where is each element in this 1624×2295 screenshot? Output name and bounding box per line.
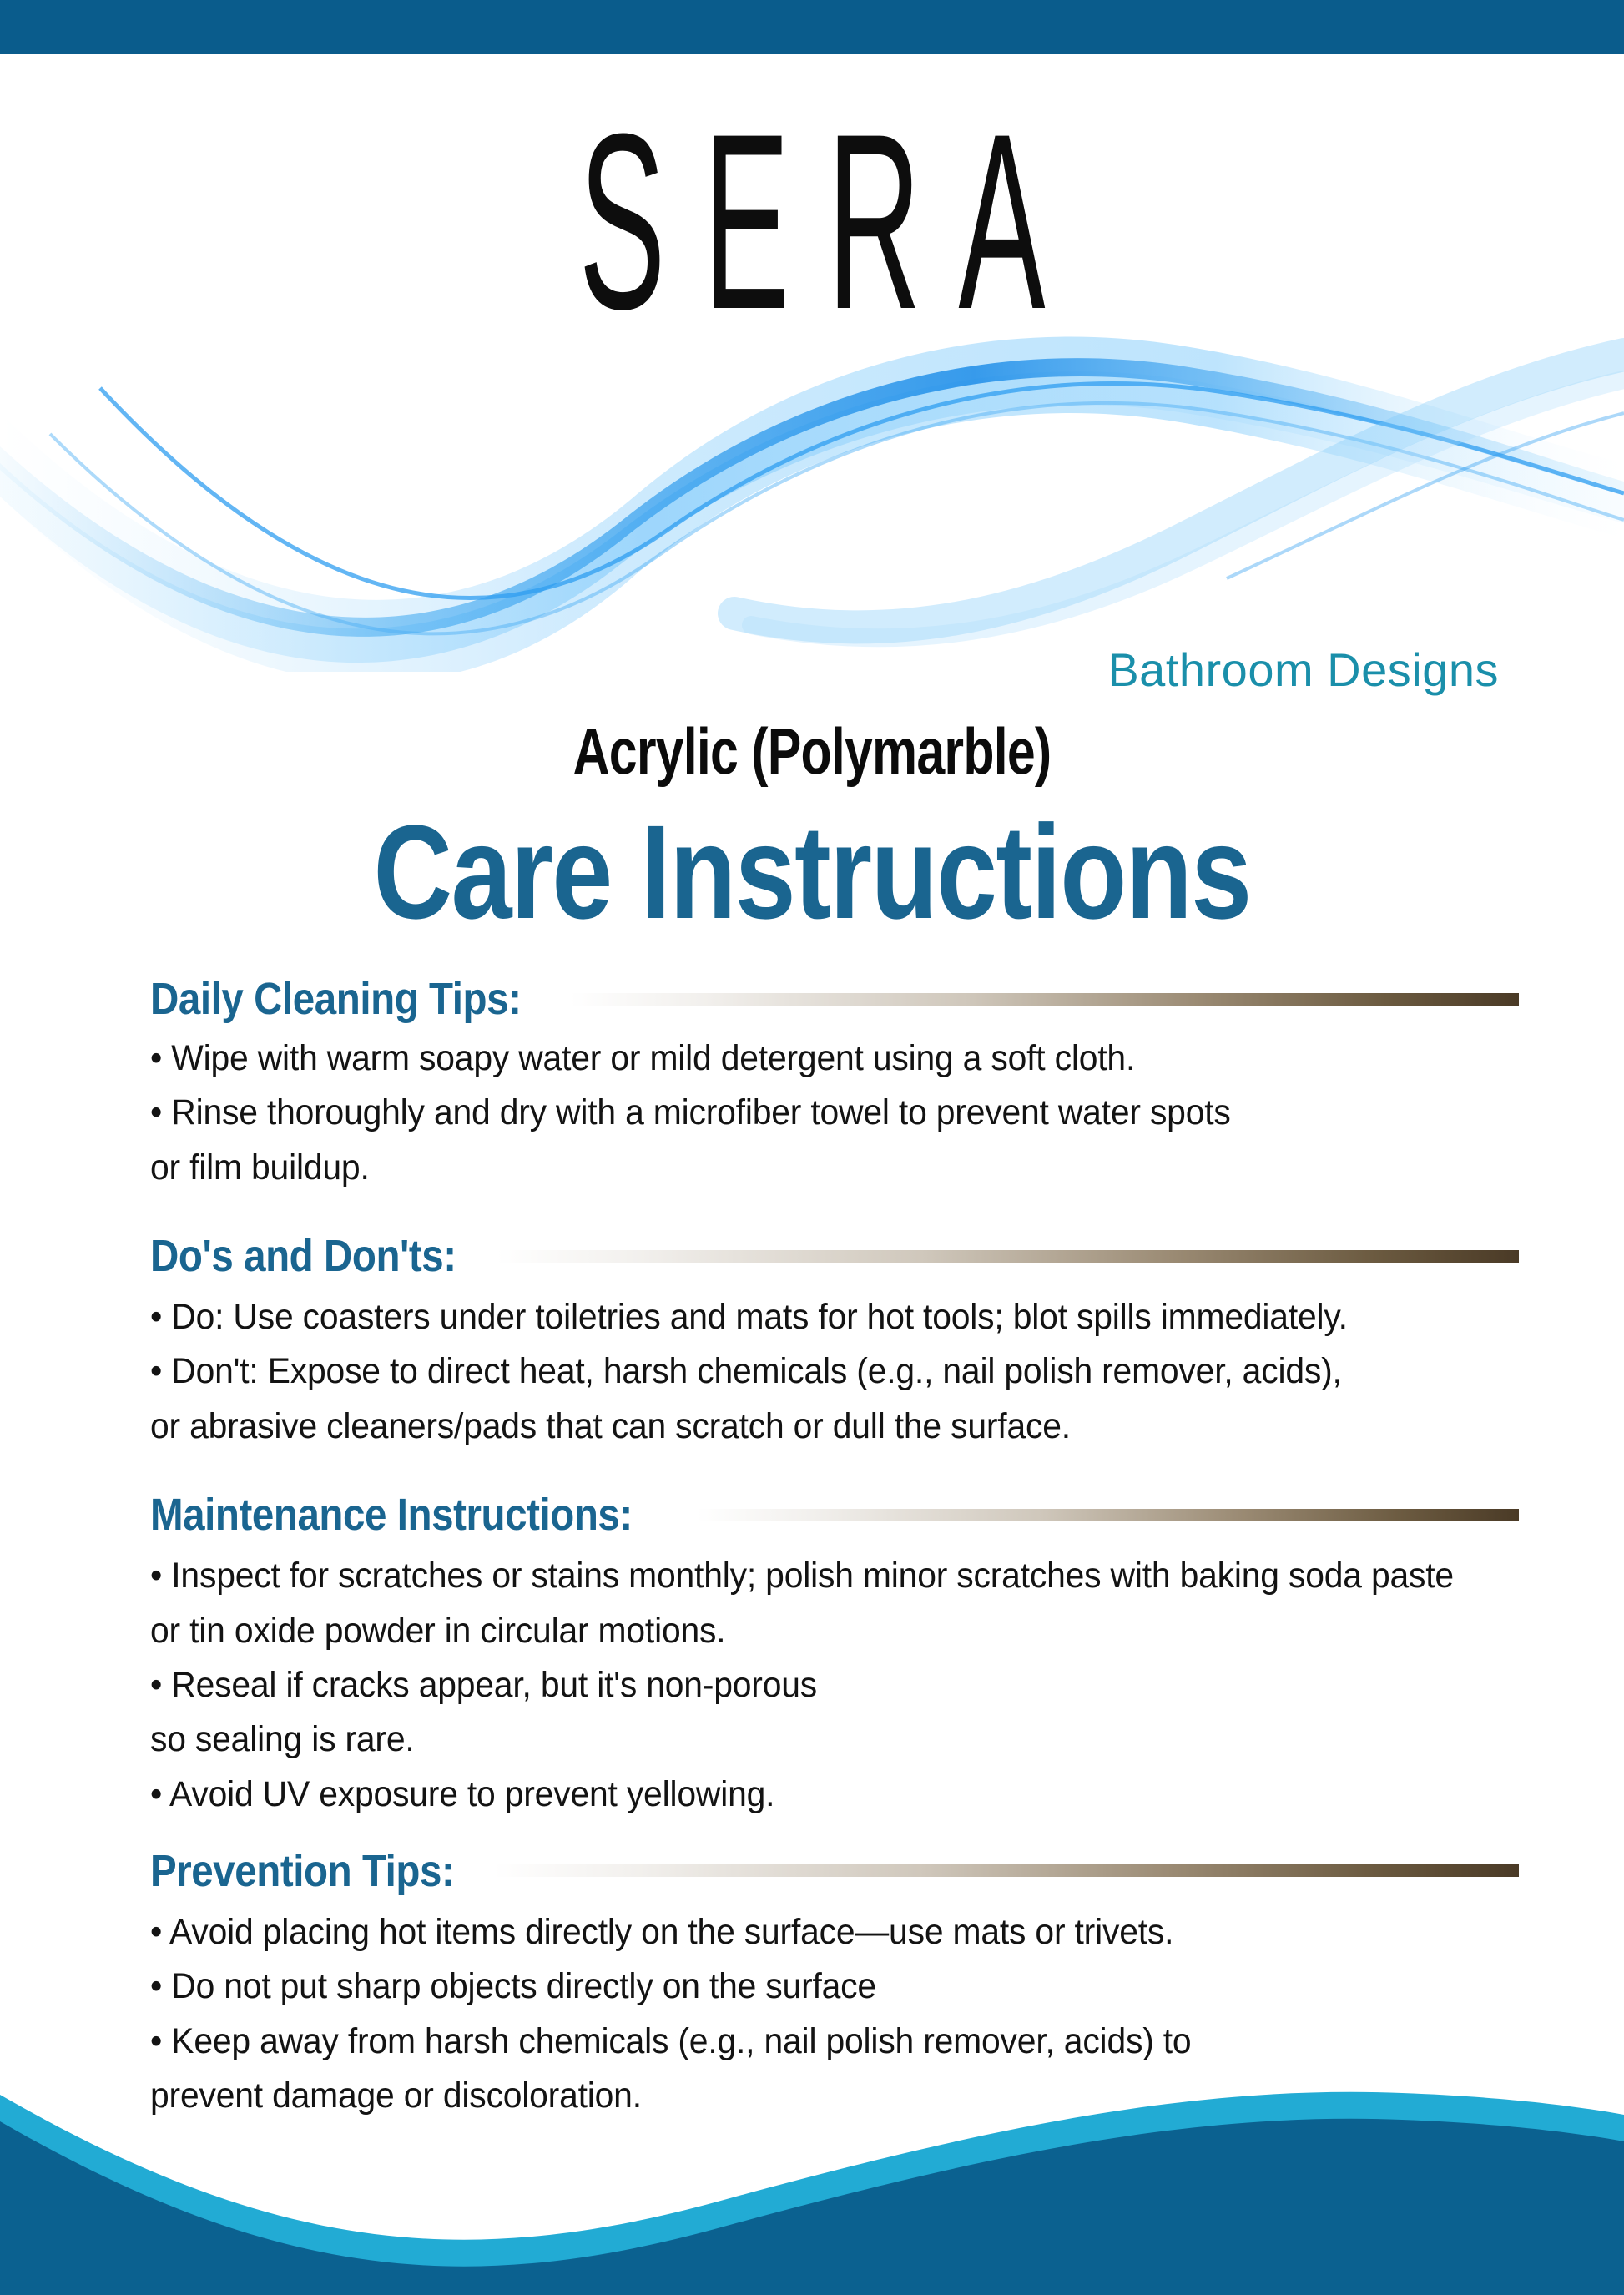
material-subtitle: Acrylic (Polymarble) (179, 714, 1445, 789)
bullet-line: or film buildup. (150, 1141, 1450, 1195)
brand-tagline: Bathroom Designs (0, 643, 1624, 697)
gradient-rule (697, 1509, 1519, 1521)
top-accent-bar (0, 0, 1624, 54)
bullet-line: • Do: Use coasters under toiletries and … (150, 1290, 1450, 1344)
logo-header: SERA (0, 54, 1624, 747)
decorative-wave-graphic (0, 288, 1624, 672)
care-instructions-page: SERA (0, 0, 1624, 2295)
section-heading: Daily Cleaning Tips: (150, 973, 521, 1025)
bullet-list: • Wipe with warm soapy water or mild det… (150, 1031, 1519, 1200)
section-heading: Maintenance Instructions: (150, 1489, 633, 1541)
instructions-content: Daily Cleaning Tips: • Wipe with warm so… (150, 968, 1519, 2128)
section-header: Prevention Tips: (150, 1840, 1519, 1902)
bullet-line: or tin oxide powder in circular motions. (150, 1604, 1450, 1658)
section-heading: Prevention Tips: (150, 1845, 454, 1897)
bullet-line: • Do not put sharp objects directly on t… (150, 1960, 1450, 2014)
bullet-line: • Rinse thoroughly and dry with a microf… (150, 1086, 1450, 1140)
bullet-list: • Do: Use coasters under toiletries and … (150, 1290, 1519, 1459)
bullet-line: • Wipe with warm soapy water or mild det… (150, 1031, 1450, 1086)
bullet-line: • Avoid placing hot items directly on th… (150, 1905, 1450, 1960)
bullet-line: or abrasive cleaners/pads that can scrat… (150, 1400, 1450, 1454)
bullet-line: • Inspect for scratches or stains monthl… (150, 1549, 1450, 1603)
bullet-line: so sealing is rare. (150, 1712, 1450, 1767)
section-heading: Do's and Don'ts: (150, 1230, 456, 1282)
bullet-line: • Don't: Expose to direct heat, harsh ch… (150, 1344, 1450, 1399)
section-daily-cleaning-tips: Daily Cleaning Tips: • Wipe with warm so… (150, 968, 1519, 1200)
section-header: Daily Cleaning Tips: (150, 968, 1519, 1030)
bullet-list: • Inspect for scratches or stains monthl… (150, 1549, 1519, 1827)
page-title: Care Instructions (146, 805, 1478, 939)
section-header: Maintenance Instructions: (150, 1484, 1519, 1546)
bullet-line: • Reseal if cracks appear, but it's non-… (150, 1658, 1450, 1712)
bullet-line: • Avoid UV exposure to prevent yellowing… (150, 1768, 1450, 1822)
gradient-rule (497, 1250, 1519, 1263)
section-maintenance-instructions: Maintenance Instructions: • Inspect for … (150, 1484, 1519, 1827)
footer-wave-graphic (0, 2061, 1624, 2295)
gradient-rule (494, 1864, 1519, 1877)
section-header: Do's and Don'ts: (150, 1225, 1519, 1287)
gradient-rule (570, 993, 1519, 1006)
section-dos-and-donts: Do's and Don'ts: • Do: Use coasters unde… (150, 1225, 1519, 1459)
